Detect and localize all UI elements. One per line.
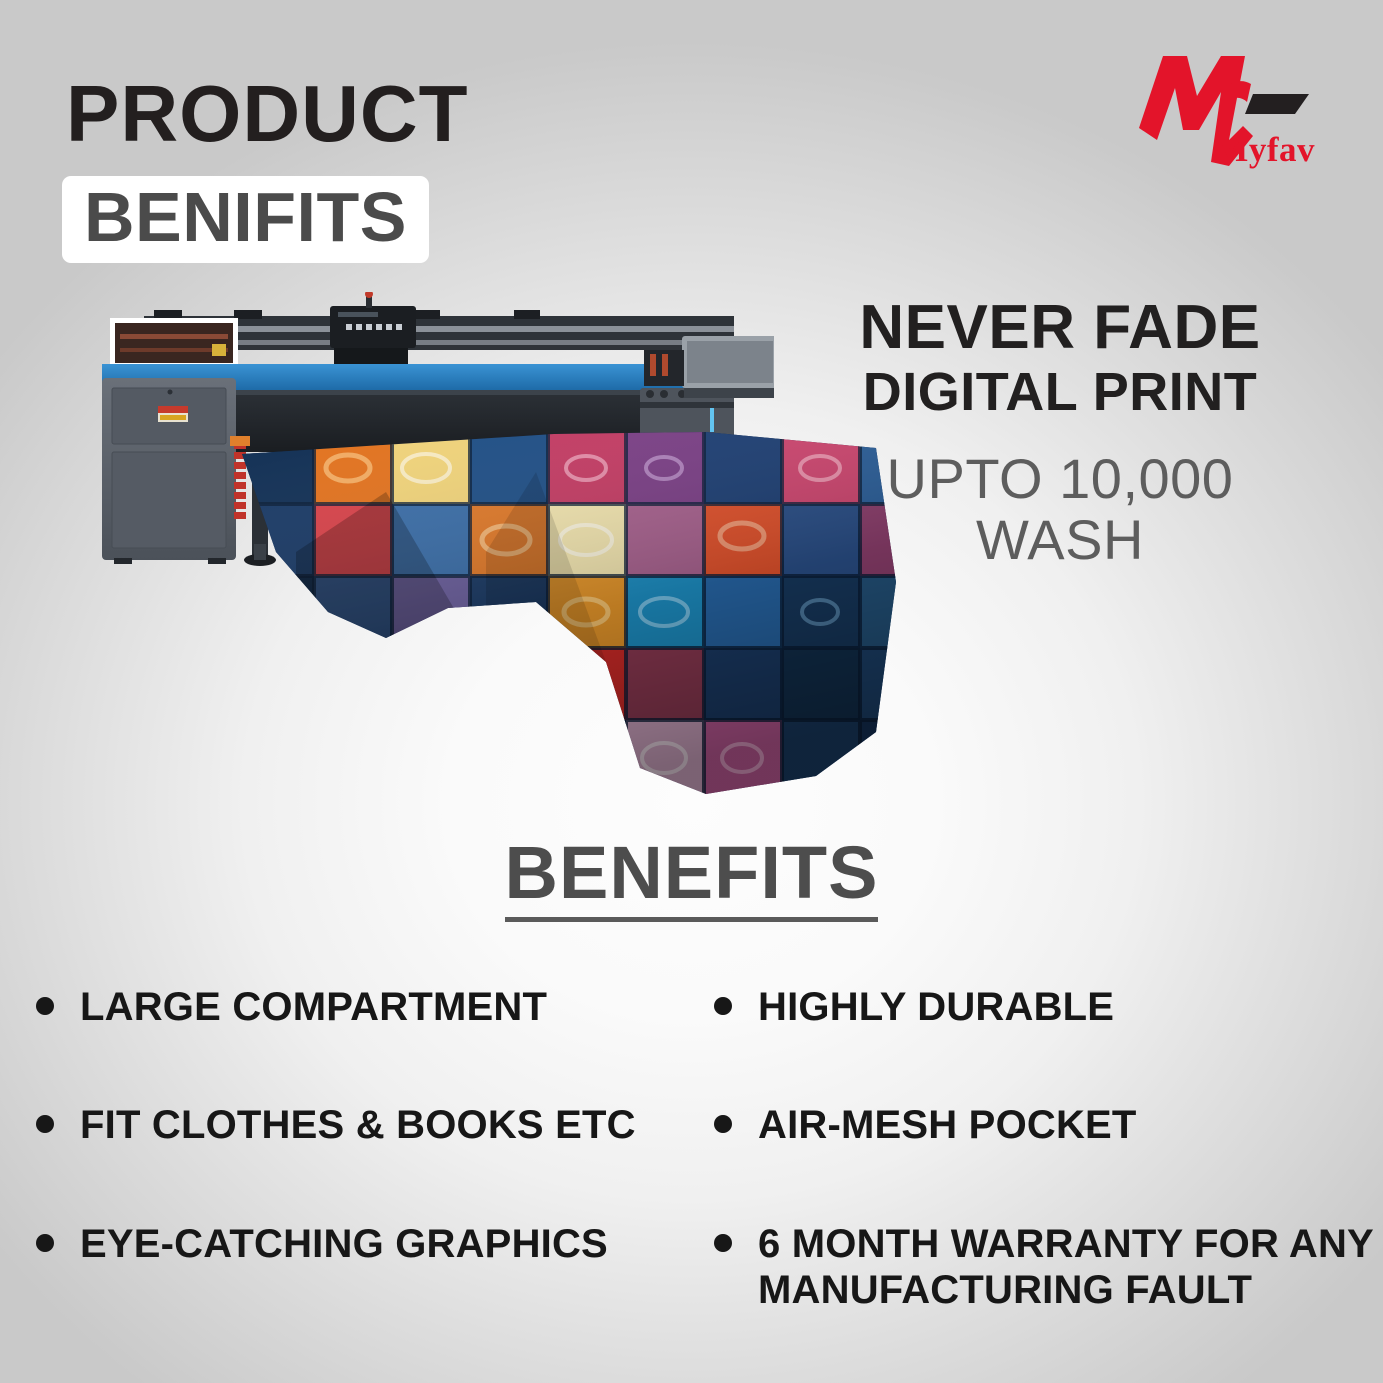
benefits-column-right: HIGHLY DURABLE AIR-MESH POCKET 6 MONTH W…: [714, 984, 1374, 1383]
list-item: FIT CLOTHES & BOOKS ETC: [36, 1102, 706, 1148]
list-item: 6 MONTH WARRANTY FOR ANY MANUFACTURING F…: [714, 1221, 1374, 1314]
bullet-dot-icon: [714, 1234, 732, 1252]
benefits-section-heading: BENEFITS: [0, 836, 1383, 922]
benefit-label: AIR-MESH POCKET: [758, 1102, 1137, 1148]
benefit-label: HIGHLY DURABLE: [758, 984, 1114, 1030]
bullet-dot-icon: [714, 997, 732, 1015]
bullet-dot-icon: [36, 1234, 54, 1252]
benefit-label: LARGE COMPARTMENT: [80, 984, 547, 1030]
headline-block: NEVER FADE DIGITAL PRINT UPTO 10,000 WAS…: [800, 296, 1320, 571]
benefit-label: FIT CLOTHES & BOOKS ETC: [80, 1102, 636, 1148]
bullet-dot-icon: [714, 1115, 732, 1133]
poster-canvas: PRODUCT BENIFITS Myfav: [0, 0, 1383, 1383]
brand-wordmark: Myfav: [1215, 130, 1315, 170]
brand-logo[interactable]: Myfav: [1125, 44, 1335, 172]
headline-wash-count: UPTO 10,000 WASH: [800, 448, 1320, 571]
logo-dash-icon: [1245, 94, 1309, 114]
benefit-label: 6 MONTH WARRANTY FOR ANY MANUFACTURING F…: [758, 1221, 1374, 1314]
page-title-benifits: BENIFITS: [84, 182, 407, 253]
list-item: HIGHLY DURABLE: [714, 984, 1374, 1030]
list-item: AIR-MESH POCKET: [714, 1102, 1374, 1148]
benefit-label: EYE-CATCHING GRAPHICS: [80, 1221, 608, 1267]
list-item: EYE-CATCHING GRAPHICS: [36, 1221, 706, 1267]
bullet-dot-icon: [36, 1115, 54, 1133]
headline-never-fade: NEVER FADE: [800, 296, 1320, 359]
bullet-dot-icon: [36, 997, 54, 1015]
page-title-benifits-highlight: BENIFITS: [62, 176, 429, 263]
benefits-column-left: LARGE COMPARTMENT FIT CLOTHES & BOOKS ET…: [36, 984, 706, 1339]
headline-digital-print: DIGITAL PRINT: [800, 363, 1320, 421]
list-item: LARGE COMPARTMENT: [36, 984, 706, 1030]
page-title-product: PRODUCT: [66, 74, 469, 154]
